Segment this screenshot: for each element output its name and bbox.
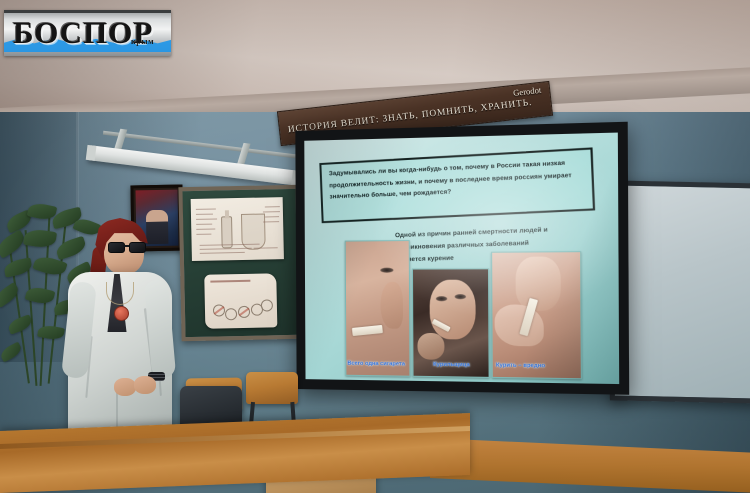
photo-hand-cigarette bbox=[491, 251, 582, 379]
projection-screen: Задумывались ли вы когда-нибудь о том, п… bbox=[304, 133, 619, 385]
hand-drawn-poster-cigarette bbox=[204, 273, 277, 328]
photo-face-cigarette bbox=[345, 240, 411, 377]
slide-question-box: Задумывались ли вы когда-нибудь о том, п… bbox=[319, 147, 595, 223]
photo-caption-3: Курить – вредно bbox=[496, 362, 545, 369]
lamp-end-left bbox=[86, 145, 97, 161]
presenter-hand-left bbox=[114, 378, 136, 396]
banner-attribution: Gerodot bbox=[513, 85, 542, 98]
logo-top-bar bbox=[4, 10, 171, 13]
hand-drawn-poster-bottle bbox=[191, 197, 284, 261]
photo-caption-1: Всего одна сигарета bbox=[347, 361, 405, 368]
projection-screen-frame: Задумывались ли вы когда-нибудь о том, п… bbox=[295, 122, 629, 395]
photo-caption-2: Курильщица bbox=[433, 362, 470, 369]
presenter bbox=[62, 220, 182, 435]
presenter-hand-right bbox=[134, 376, 156, 394]
presenter-glasses bbox=[108, 242, 144, 251]
presenter-badge bbox=[114, 306, 129, 321]
watermark-logo: БОСПОР крым bbox=[4, 10, 171, 56]
screenshot-root: Gerodot ИСТОРИЯ ВЕЛИТ: ЗНАТЬ, ПОМНИТЬ, Х… bbox=[0, 0, 750, 493]
logo-subtext: крым bbox=[131, 37, 154, 46]
green-chalkboard bbox=[178, 185, 302, 342]
whiteboard bbox=[610, 180, 750, 403]
slide-question-text: Задумывались ли вы когда-нибудь о том, п… bbox=[329, 156, 587, 203]
